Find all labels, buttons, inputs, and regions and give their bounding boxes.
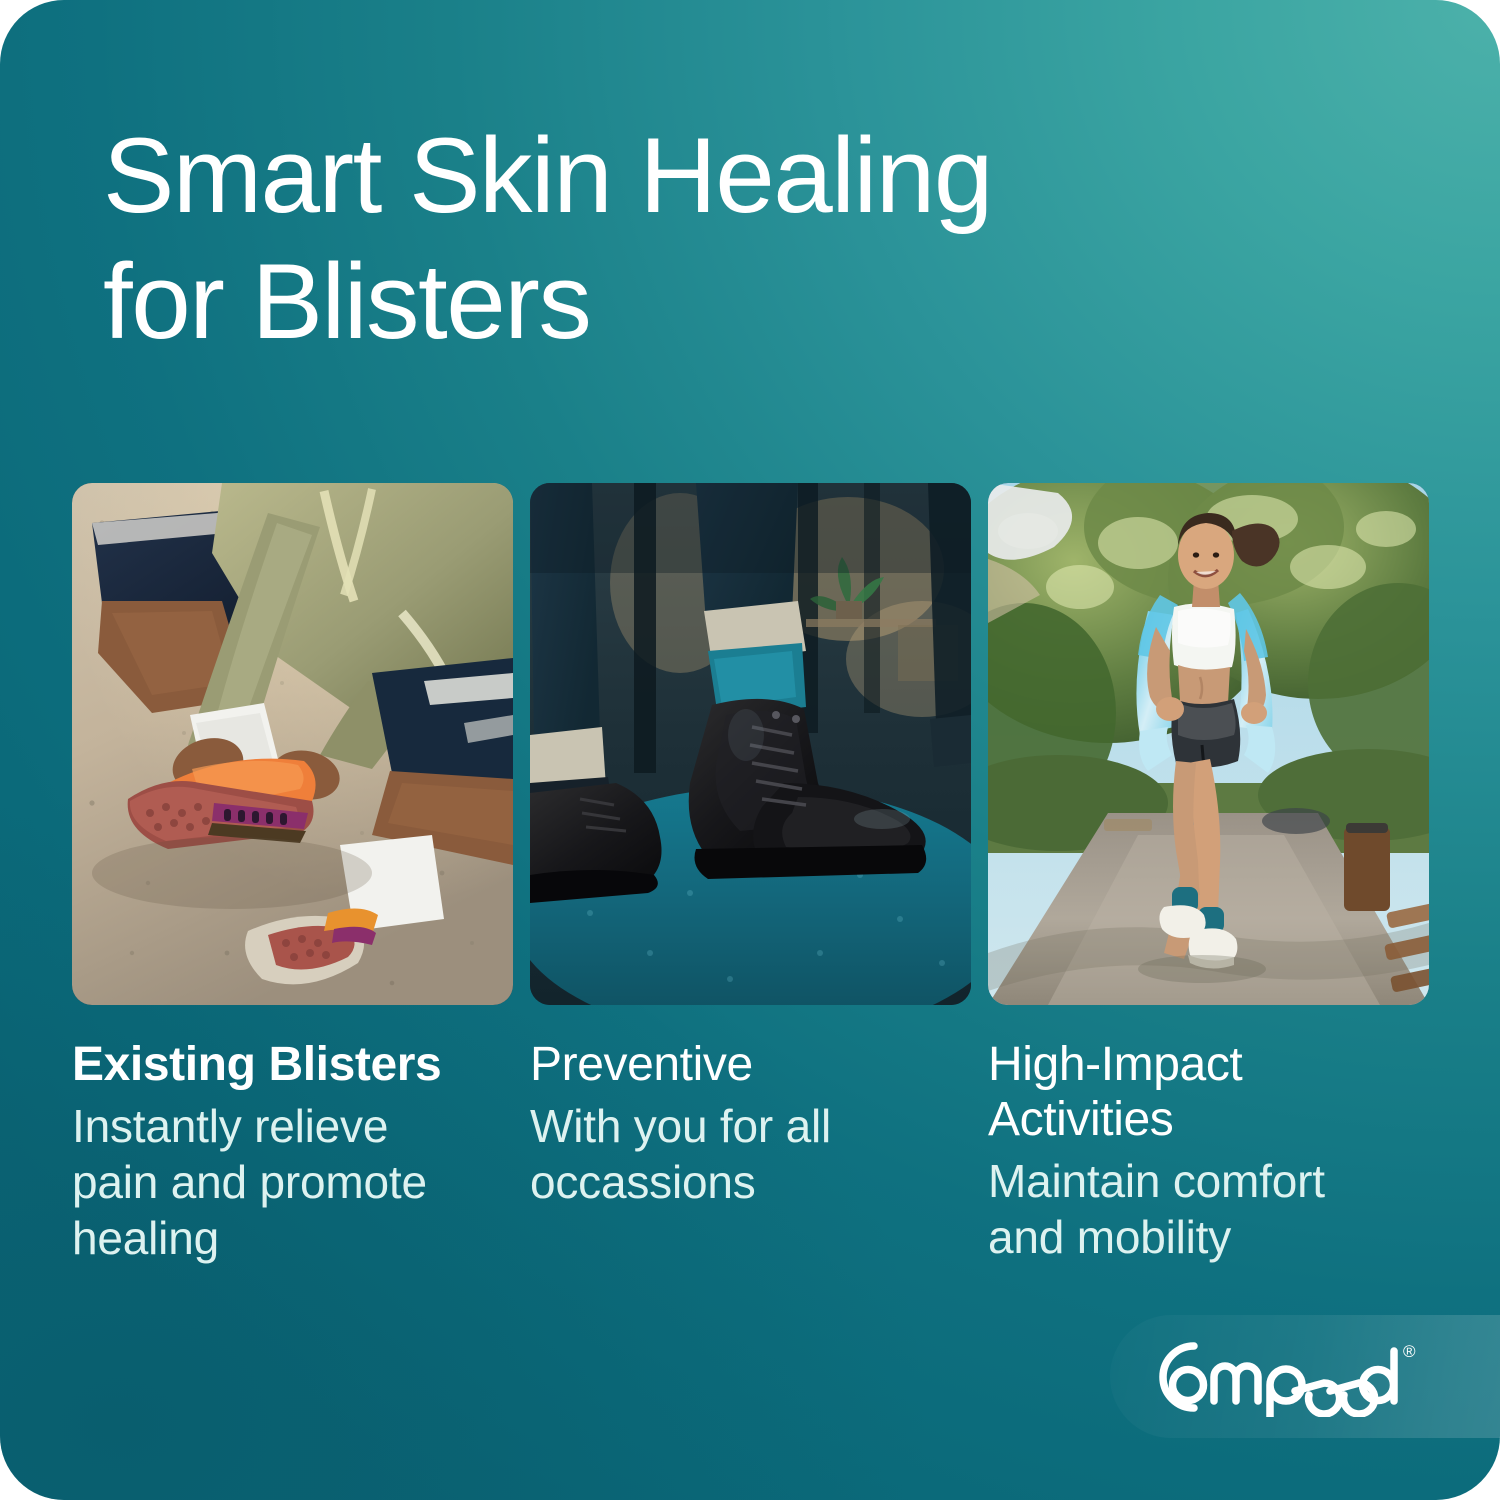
card-title: High-Impact Activities: [988, 1037, 1429, 1147]
feature-card-preventive: Preventive With you for all occassions: [530, 483, 971, 1266]
feature-card-high-impact: High-Impact Activities Maintain comfort …: [988, 483, 1429, 1266]
woman-jogging-park-photo: [988, 483, 1429, 1005]
page-title: Smart Skin Healing for Blisters: [103, 112, 1233, 364]
card-body: With you for all occassions: [530, 1098, 971, 1210]
product-infographic-canvas: Smart Skin Healing for Blisters: [0, 0, 1500, 1500]
compeed-wordmark-icon: [1148, 1337, 1400, 1417]
runner-holding-foot-photo: [72, 483, 513, 1005]
card-title: Existing Blisters: [72, 1037, 513, 1092]
card-body: Instantly relieve pain and promote heali…: [72, 1098, 513, 1266]
registered-trademark-mark: ®: [1403, 1343, 1416, 1360]
feature-card-existing-blisters: Existing Blisters Instantly relieve pain…: [72, 483, 513, 1266]
feature-card-row: Existing Blisters Instantly relieve pain…: [72, 483, 1429, 1266]
compeed-logo: ®: [1148, 1337, 1416, 1417]
card-title: Preventive: [530, 1037, 971, 1092]
black-boots-on-rug-photo: [530, 483, 971, 1005]
card-body: Maintain comfort and mobility: [988, 1153, 1429, 1265]
